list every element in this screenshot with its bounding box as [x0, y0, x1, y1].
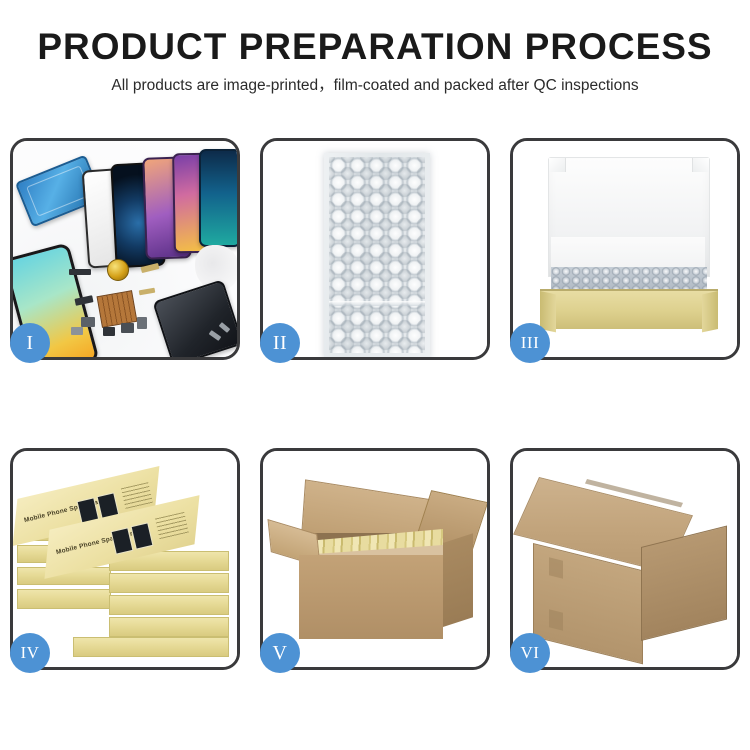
camera-part: [81, 317, 95, 327]
carton-front-face: [299, 555, 443, 639]
kraft-box-tray-left: [540, 291, 556, 332]
step-badge-5: V: [260, 633, 300, 673]
step-card-3[interactable]: III: [510, 138, 740, 360]
sim-tray-part: [71, 327, 83, 335]
step-image-5: [263, 451, 487, 667]
carton-tape-mark: [549, 609, 563, 630]
box-stack: Mobile Phone Spare Parts Mobile Phone Sp…: [13, 451, 237, 667]
step-card-2[interactable]: II: [260, 138, 490, 360]
sealed-carton-side-face: [641, 526, 727, 641]
flex-cable-part: [139, 288, 156, 296]
carton-side-face: [443, 533, 473, 627]
box-edge: [109, 595, 229, 615]
kraft-box-tray-right: [702, 291, 718, 332]
box-edge: [73, 637, 229, 657]
speaker-module-icon: [107, 259, 129, 281]
small-component-part: [103, 327, 115, 336]
step-card-4[interactable]: Mobile Phone Spare Parts Mobile Phone Sp…: [10, 448, 240, 670]
page-subtitle: All products are image-printed，film-coat…: [0, 78, 750, 94]
teal-gradient-phone: [199, 149, 237, 247]
step-card-1[interactable]: I: [10, 138, 240, 360]
page-header: PRODUCT PREPARATION PROCESS All products…: [0, 0, 750, 94]
box-edge: [17, 589, 111, 609]
kraft-box-tray: [540, 291, 718, 329]
step-badge-4: IV: [10, 633, 50, 673]
step-image-3: [513, 141, 737, 357]
box-edge: [109, 573, 229, 593]
step-image-4: Mobile Phone Spare Parts Mobile Phone Sp…: [13, 451, 237, 667]
step-image-2: [263, 141, 487, 357]
step-badge-2: II: [260, 323, 300, 363]
step-badge-3: III: [510, 323, 550, 363]
small-component-part: [137, 317, 147, 329]
box-edge: [109, 617, 229, 637]
step-card-6[interactable]: VI: [510, 448, 740, 670]
step-badge-6: VI: [510, 633, 550, 673]
small-component-part: [121, 323, 134, 333]
bubble-wrap-pouch: [324, 153, 430, 357]
step-image-6: [513, 451, 737, 667]
carton-tape-mark: [549, 557, 563, 578]
pouch-seam: [329, 301, 425, 306]
step-card-5[interactable]: V: [260, 448, 490, 670]
battery-part: [69, 269, 91, 275]
step-image-1: [13, 141, 237, 357]
process-steps-grid: I II III: [10, 138, 740, 670]
bubble-pattern-offset: [329, 157, 425, 353]
step-badge-1: I: [10, 323, 50, 363]
page-title: PRODUCT PREPARATION PROCESS: [0, 28, 750, 65]
phone-back-housing: [152, 279, 237, 357]
